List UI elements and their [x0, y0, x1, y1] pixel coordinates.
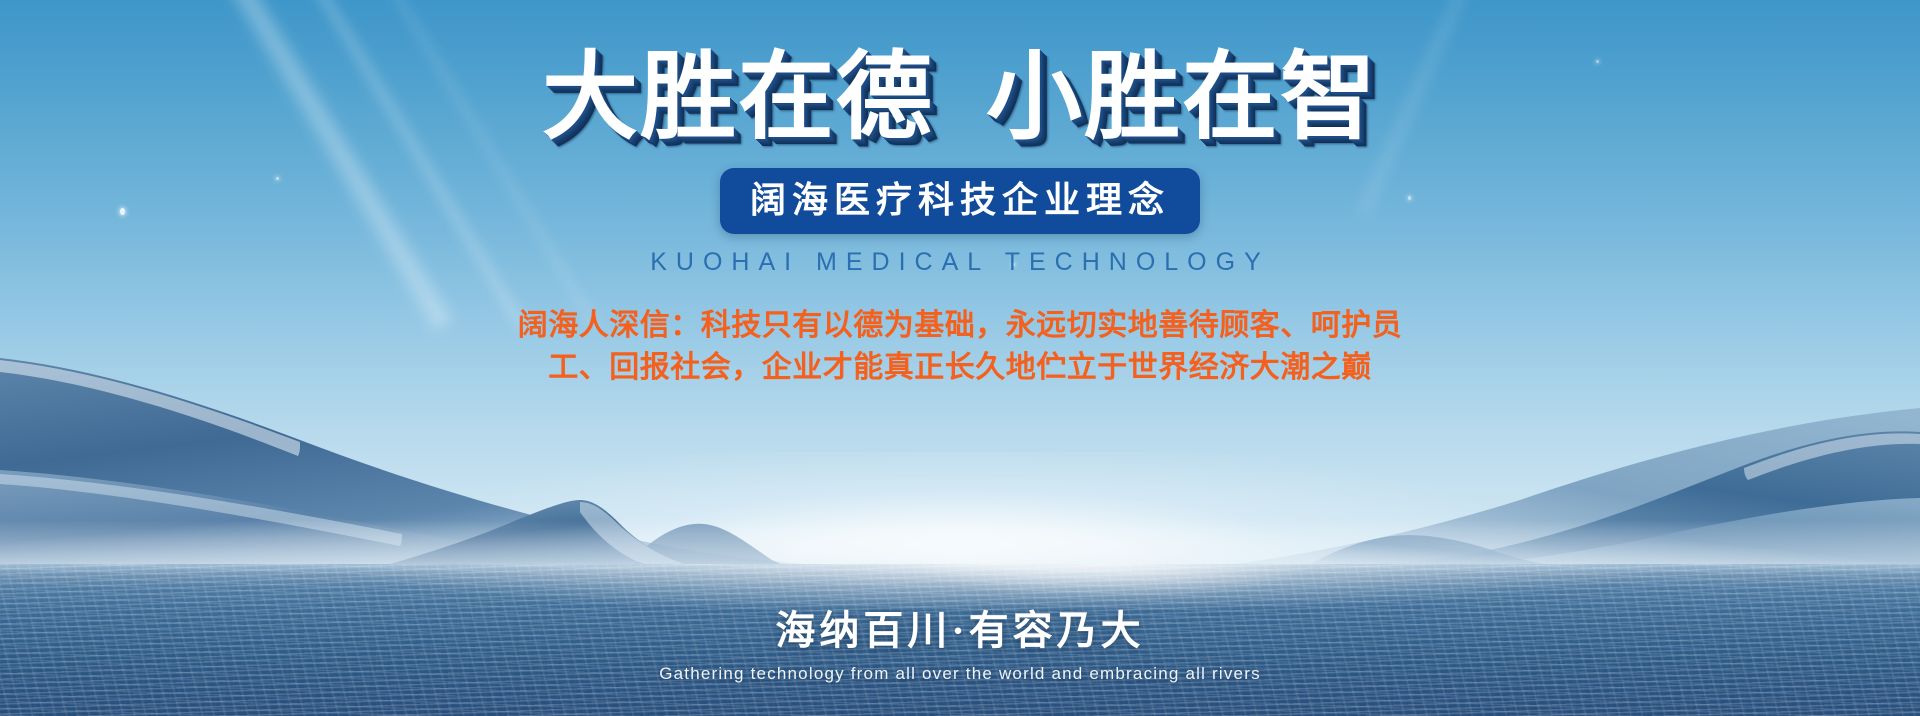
motto-english: Gathering technology from all over the w… — [659, 664, 1261, 684]
philosophy-line-1: 阔海人深信：科技只有以德为基础，永远切实地善待顾客、呵护员 — [510, 305, 1410, 348]
english-subtitle: KUOHAI MEDICAL TECHNOLOGY — [650, 248, 1270, 277]
hero-banner: 大胜在德小胜在智 阔海医疗科技企业理念 KUOHAI MEDICAL TECHN… — [0, 0, 1920, 716]
philosophy-line-2: 工、回报社会，企业才能真正长久地伫立于世界经济大潮之巅 — [510, 347, 1410, 390]
headline-right: 小胜在智 — [986, 44, 1378, 151]
status-badge: 阔海医疗科技企业理念 — [720, 168, 1200, 234]
philosophy-paragraph: 阔海人深信：科技只有以德为基础，永远切实地善待顾客、呵护员 工、回报社会，企业才… — [510, 305, 1410, 390]
motto-block: 海纳百川·有容乃大 Gathering technology from all … — [0, 598, 1920, 684]
motto-chinese: 海纳百川·有容乃大 — [775, 598, 1144, 656]
headline-left: 大胜在德 — [542, 44, 934, 151]
page-title: 大胜在德小胜在智 — [542, 50, 1378, 146]
